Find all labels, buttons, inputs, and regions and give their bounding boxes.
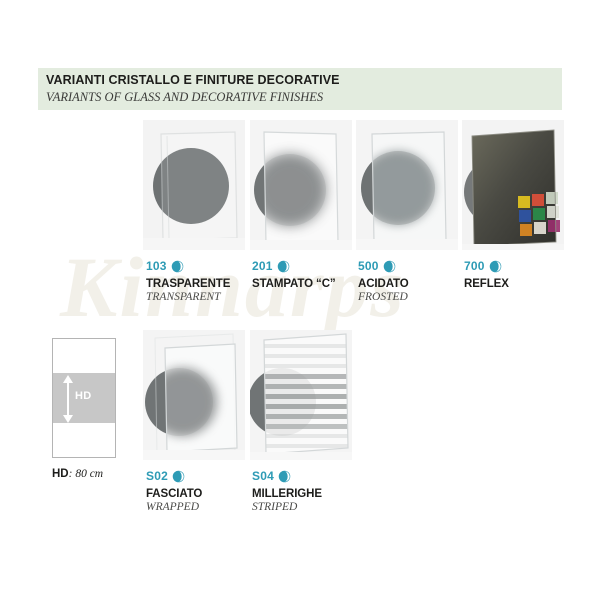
glass-sample-frosted-image bbox=[356, 120, 458, 250]
glass-sample-clear-image bbox=[143, 120, 245, 250]
section-header-band: VARIANTI CRISTALLO E FINITURE DECORATIVE… bbox=[38, 68, 562, 110]
sample-name-it: REFLEX bbox=[464, 278, 572, 290]
sample-code-row: 500 bbox=[358, 258, 466, 274]
sample-name-en: STRIPED bbox=[252, 501, 360, 513]
sample-name-it: TRASPARENTE bbox=[146, 278, 254, 290]
header-title-it: VARIANTI CRISTALLO E FINITURE DECORATIVE bbox=[46, 73, 340, 87]
sample-tile-fasciato[interactable] bbox=[143, 330, 245, 460]
sample-name-en: TRANSPARENT bbox=[146, 291, 254, 303]
sample-code: S04 bbox=[252, 469, 274, 483]
glass-sample-textured-image bbox=[250, 120, 352, 250]
hd-dimension-diagram: HD bbox=[52, 338, 116, 458]
hd-caption: HD: 80 cm bbox=[52, 468, 103, 480]
glass-swatch-icon bbox=[277, 260, 290, 273]
sample-code-row: S02 bbox=[146, 468, 254, 484]
glass-sample-banded-image bbox=[143, 330, 245, 460]
sample-caption-stampato-c: 201 STAMPATO “C” bbox=[252, 258, 360, 291]
sample-tile-millerighe[interactable] bbox=[250, 330, 352, 460]
sample-name-it: MILLERIGHE bbox=[252, 488, 360, 500]
sample-code-row: 201 bbox=[252, 258, 360, 274]
sample-caption-trasparente: 103 TRASPARENTE TRANSPARENT bbox=[146, 258, 254, 303]
sample-tile-reflex[interactable] bbox=[462, 120, 564, 250]
sample-name-it: ACIDATO bbox=[358, 278, 466, 290]
sample-name-it: STAMPATO “C” bbox=[252, 278, 360, 290]
sample-caption-acidato: 500 ACIDATO FROSTED bbox=[358, 258, 466, 303]
hd-caption-value: : 80 cm bbox=[69, 468, 104, 480]
sample-code-row: 103 bbox=[146, 258, 254, 274]
sample-tile-acidato[interactable] bbox=[356, 120, 458, 250]
sample-code: S02 bbox=[146, 469, 168, 483]
sample-name-en: FROSTED bbox=[358, 291, 466, 303]
sample-code: 700 bbox=[464, 259, 485, 273]
glass-swatch-icon bbox=[383, 260, 396, 273]
sample-code-row: S04 bbox=[252, 468, 360, 484]
sample-caption-fasciato: S02 FASCIATO WRAPPED bbox=[146, 468, 254, 513]
hd-caption-key: HD bbox=[52, 468, 69, 480]
sample-caption-millerighe: S04 MILLERIGHE STRIPED bbox=[252, 468, 360, 513]
glass-sample-striped-image bbox=[250, 330, 352, 460]
sample-code: 201 bbox=[252, 259, 273, 273]
sample-name-en: WRAPPED bbox=[146, 501, 254, 513]
glass-sample-bronze-mirror-image bbox=[462, 120, 564, 250]
glass-swatch-icon bbox=[172, 470, 185, 483]
glass-swatch-icon bbox=[171, 260, 184, 273]
glass-swatch-icon bbox=[489, 260, 502, 273]
double-arrow-icon bbox=[62, 375, 74, 423]
sample-code: 500 bbox=[358, 259, 379, 273]
header-title-en: VARIANTS OF GLASS AND DECORATIVE FINISHE… bbox=[46, 90, 323, 105]
sample-code: 103 bbox=[146, 259, 167, 273]
sample-code-row: 700 bbox=[464, 258, 572, 274]
sample-tile-stampato-c[interactable] bbox=[250, 120, 352, 250]
sample-tile-trasparente[interactable] bbox=[143, 120, 245, 250]
sample-caption-reflex: 700 REFLEX bbox=[464, 258, 572, 291]
hd-band-label: HD bbox=[75, 390, 92, 402]
glass-swatch-icon bbox=[278, 470, 291, 483]
sample-name-it: FASCIATO bbox=[146, 488, 254, 500]
